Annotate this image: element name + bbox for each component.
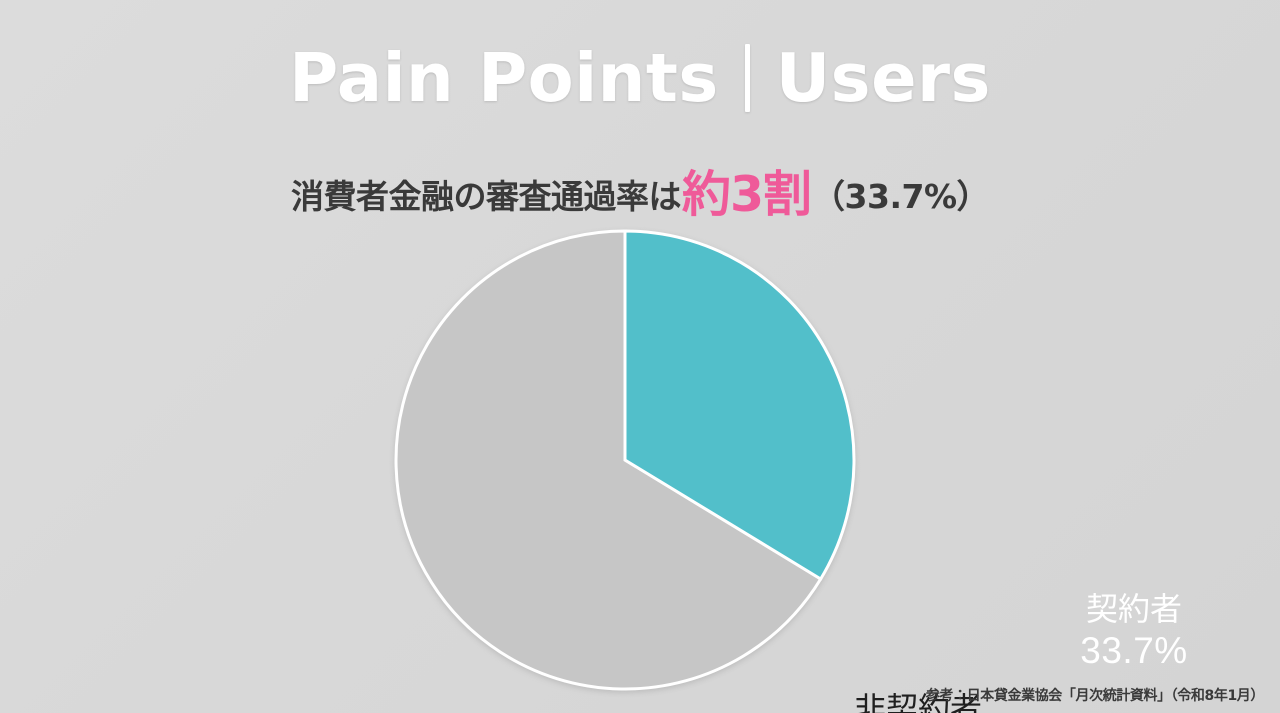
source-note: 参考：日本貸金業協会「月次統計資料」（令和8年1月）	[926, 685, 1264, 705]
subtitle-lead-text: 消費者金融の審査通過率は	[291, 170, 681, 218]
slide-canvas: Pain Points Users 消費者金融の審査通過率は 約3割 （33.7…	[0, 0, 1280, 713]
pie-chart: 契約者 33.7% 非契約者 66.3%	[393, 229, 857, 691]
pie-label-contract: 契約者 33.7%	[1051, 591, 1217, 672]
pie-label-contract-name: 契約者	[1051, 591, 1217, 629]
subtitle-paren-text: （33.7%）	[812, 170, 989, 218]
title-right-text: Users	[776, 36, 991, 120]
pie-label-contract-value: 33.7%	[1051, 629, 1217, 673]
title-divider-icon	[745, 44, 750, 112]
subtitle: 消費者金融の審査通過率は 約3割 （33.7%）	[0, 152, 1280, 210]
page-title: Pain Points Users	[0, 36, 1280, 120]
title-left-text: Pain Points	[289, 36, 719, 120]
subtitle-highlight-text: 約3割	[682, 155, 811, 226]
